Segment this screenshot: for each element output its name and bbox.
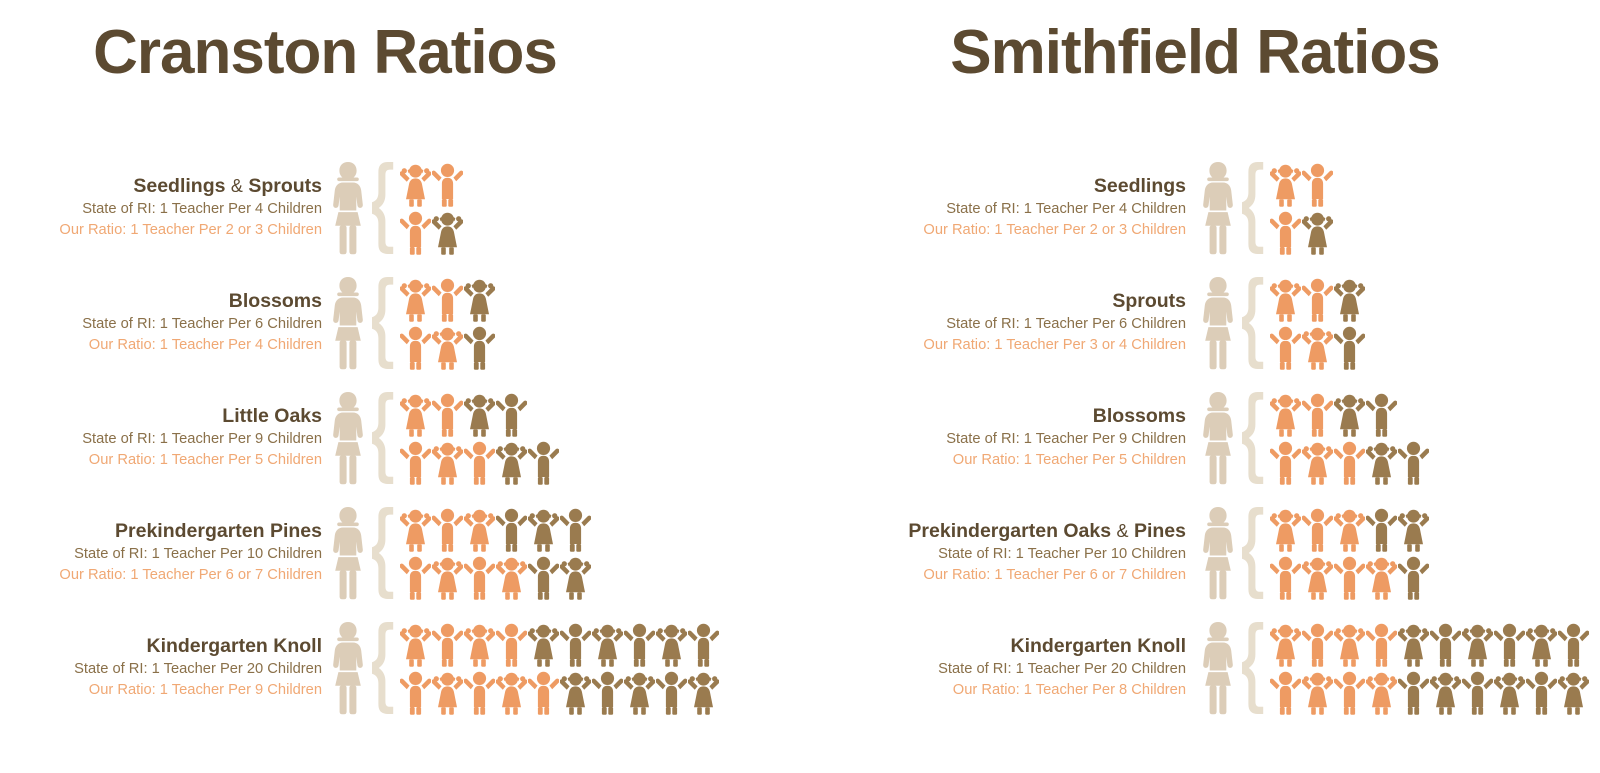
teacher-figure-icon <box>330 390 366 486</box>
children-grid <box>400 161 463 255</box>
child-boy-icon <box>1302 621 1333 667</box>
child-icon <box>1334 554 1365 600</box>
ratio-icon-group <box>330 495 591 610</box>
brace-icon-wrap <box>368 392 394 484</box>
teacher-figure-icon <box>330 620 366 716</box>
child-icon <box>1494 621 1525 667</box>
ampersand: & <box>231 176 243 196</box>
child-icon <box>1302 669 1333 715</box>
child-icon <box>1334 439 1365 485</box>
classroom-name: Blossoms <box>0 289 322 314</box>
teacher-figure-icon <box>330 505 366 601</box>
our-ratio-text: Our Ratio: 1 Teacher Per 2 or 3 Children <box>800 220 1186 241</box>
our-ratio-text: Our Ratio: 1 Teacher Per 5 Children <box>800 450 1186 471</box>
child-icon <box>432 506 463 552</box>
child-icon <box>1462 669 1493 715</box>
child-girl-icon <box>1494 669 1525 715</box>
child-boy-icon <box>1494 621 1525 667</box>
ratio-row: Kindergarten KnollState of RI: 1 Teacher… <box>0 610 800 725</box>
children-row <box>400 669 719 715</box>
child-icon <box>560 621 591 667</box>
child-icon <box>656 621 687 667</box>
child-boy-icon <box>432 506 463 552</box>
child-icon <box>1334 669 1365 715</box>
brace-icon-wrap <box>368 162 394 254</box>
child-girl-icon <box>432 209 463 255</box>
child-girl-icon <box>432 669 463 715</box>
child-icon <box>496 391 527 437</box>
child-icon <box>1302 161 1333 207</box>
child-girl-icon <box>1302 554 1333 600</box>
child-boy-icon <box>496 506 527 552</box>
child-boy-icon <box>400 209 431 255</box>
row-labels: BlossomsState of RI: 1 Teacher Per 9 Chi… <box>800 404 1200 472</box>
ratio-row: SeedlingsState of RI: 1 Teacher Per 4 Ch… <box>800 150 1600 265</box>
child-icon <box>496 621 527 667</box>
child-girl-icon <box>1302 209 1333 255</box>
child-girl-icon <box>464 391 495 437</box>
child-boy-icon <box>1302 391 1333 437</box>
brace-icon-wrap <box>1238 277 1264 369</box>
child-girl-icon <box>1334 391 1365 437</box>
curly-brace-icon <box>1238 162 1264 254</box>
child-icon <box>496 439 527 485</box>
child-girl-icon <box>1558 669 1589 715</box>
children-row <box>1270 391 1429 437</box>
children-row <box>400 506 591 552</box>
child-icon <box>1270 324 1301 370</box>
child-girl-icon <box>1270 276 1301 322</box>
child-girl-icon <box>592 621 623 667</box>
child-girl-icon <box>528 506 559 552</box>
children-row <box>400 391 559 437</box>
teacher-icon-wrap <box>330 160 366 256</box>
child-girl-icon <box>1366 554 1397 600</box>
child-girl-icon <box>1270 506 1301 552</box>
brace-icon-wrap <box>1238 162 1264 254</box>
ratio-icon-group <box>1200 610 1589 725</box>
curly-brace-icon <box>368 622 394 714</box>
brace-icon-wrap <box>1238 622 1264 714</box>
curly-brace-icon <box>368 507 394 599</box>
children-row <box>400 554 591 600</box>
child-boy-icon <box>1366 391 1397 437</box>
teacher-figure-icon <box>330 160 366 256</box>
children-row <box>400 161 463 207</box>
our-ratio-text: Our Ratio: 1 Teacher Per 6 or 7 Children <box>800 565 1186 586</box>
our-ratio-text: Our Ratio: 1 Teacher Per 6 or 7 Children <box>0 565 322 586</box>
child-girl-icon <box>1430 669 1461 715</box>
child-girl-icon <box>1302 669 1333 715</box>
children-row <box>1270 324 1365 370</box>
row-labels: SeedlingsState of RI: 1 Teacher Per 4 Ch… <box>800 174 1200 242</box>
teacher-icon-wrap <box>1200 620 1236 716</box>
children-row <box>1270 669 1589 715</box>
teacher-icon-wrap <box>1200 160 1236 256</box>
child-icon <box>688 621 719 667</box>
state-ratio-text: State of RI: 1 Teacher Per 4 Children <box>800 199 1186 220</box>
state-ratio-text: State of RI: 1 Teacher Per 6 Children <box>800 314 1186 335</box>
child-girl-icon <box>1334 621 1365 667</box>
child-icon <box>1366 669 1397 715</box>
child-boy-icon <box>432 621 463 667</box>
classroom-name-main: Kindergarten Knoll <box>146 635 322 657</box>
our-ratio-text: Our Ratio: 1 Teacher Per 8 Children <box>800 680 1186 701</box>
child-icon <box>432 554 463 600</box>
child-girl-icon <box>496 669 527 715</box>
child-icon <box>624 669 655 715</box>
column-smithfield: Smithfield Ratios SeedlingsState of RI: … <box>800 0 1600 773</box>
children-row <box>400 276 495 322</box>
child-girl-icon <box>1270 621 1301 667</box>
child-boy-icon <box>400 669 431 715</box>
child-icon <box>400 276 431 322</box>
child-girl-icon <box>432 324 463 370</box>
child-icon <box>1334 621 1365 667</box>
classroom-name: Kindergarten Knoll <box>800 634 1186 659</box>
child-boy-icon <box>464 324 495 370</box>
infographic-root: Cranston Ratios Seedlings & SproutsState… <box>0 0 1600 773</box>
child-icon <box>528 506 559 552</box>
child-boy-icon <box>432 391 463 437</box>
child-boy-icon <box>1366 506 1397 552</box>
child-girl-icon <box>1334 276 1365 322</box>
child-girl-icon <box>432 554 463 600</box>
child-icon <box>1558 621 1589 667</box>
child-boy-icon <box>1430 621 1461 667</box>
classroom-name-main: Sprouts <box>1112 290 1186 312</box>
ratio-row: Seedlings & SproutsState of RI: 1 Teache… <box>0 150 800 265</box>
child-icon <box>1302 391 1333 437</box>
child-boy-icon <box>688 621 719 667</box>
child-girl-icon <box>1398 621 1429 667</box>
classroom-name-main: Kindergarten Knoll <box>1010 635 1186 657</box>
teacher-figure-icon <box>330 275 366 371</box>
our-ratio-text: Our Ratio: 1 Teacher Per 3 or 4 Children <box>800 335 1186 356</box>
child-icon <box>1302 324 1333 370</box>
child-girl-icon <box>1270 391 1301 437</box>
ratio-row-list: SeedlingsState of RI: 1 Teacher Per 4 Ch… <box>800 150 1600 725</box>
child-boy-icon <box>400 554 431 600</box>
child-icon <box>1366 506 1397 552</box>
row-labels: Kindergarten KnollState of RI: 1 Teacher… <box>0 634 330 702</box>
teacher-figure-icon <box>1200 620 1236 716</box>
child-boy-icon <box>1462 669 1493 715</box>
ratio-row: Prekindergarten PinesState of RI: 1 Teac… <box>0 495 800 610</box>
ratio-icon-group <box>1200 150 1333 265</box>
child-icon <box>528 554 559 600</box>
child-boy-icon <box>1302 161 1333 207</box>
child-girl-icon <box>432 439 463 485</box>
curly-brace-icon <box>1238 507 1264 599</box>
ratio-row: Kindergarten KnollState of RI: 1 Teacher… <box>800 610 1600 725</box>
child-icon <box>624 621 655 667</box>
teacher-figure-icon <box>1200 275 1236 371</box>
child-girl-icon <box>496 554 527 600</box>
teacher-icon-wrap <box>330 275 366 371</box>
child-boy-icon <box>560 506 591 552</box>
our-ratio-text: Our Ratio: 1 Teacher Per 4 Children <box>0 335 322 356</box>
state-ratio-text: State of RI: 1 Teacher Per 10 Children <box>0 544 322 565</box>
child-icon <box>464 276 495 322</box>
child-boy-icon <box>400 324 431 370</box>
child-icon <box>464 391 495 437</box>
row-labels: Little OaksState of RI: 1 Teacher Per 9 … <box>0 404 330 472</box>
child-icon <box>1334 276 1365 322</box>
child-icon <box>560 669 591 715</box>
classroom-name: Seedlings & Sprouts <box>0 174 322 199</box>
child-boy-icon <box>528 439 559 485</box>
child-icon <box>1302 276 1333 322</box>
child-icon <box>1334 324 1365 370</box>
classroom-name-main: Seedlings <box>133 175 225 197</box>
child-icon <box>1270 161 1301 207</box>
child-boy-icon <box>1302 276 1333 322</box>
state-ratio-text: State of RI: 1 Teacher Per 20 Children <box>0 659 322 680</box>
child-icon <box>1270 506 1301 552</box>
ratio-icon-group <box>1200 265 1365 380</box>
state-ratio-text: State of RI: 1 Teacher Per 9 Children <box>0 429 322 450</box>
child-icon <box>688 669 719 715</box>
child-icon <box>400 161 431 207</box>
child-boy-icon <box>1334 439 1365 485</box>
child-icon <box>400 506 431 552</box>
state-ratio-text: State of RI: 1 Teacher Per 9 Children <box>800 429 1186 450</box>
teacher-figure-icon <box>1200 160 1236 256</box>
child-girl-icon <box>1302 324 1333 370</box>
curly-brace-icon <box>368 392 394 484</box>
ratio-icon-group <box>330 610 719 725</box>
row-labels: Seedlings & SproutsState of RI: 1 Teache… <box>0 174 330 242</box>
teacher-icon-wrap <box>1200 390 1236 486</box>
our-ratio-text: Our Ratio: 1 Teacher Per 5 Children <box>0 450 322 471</box>
ratio-icon-group <box>330 380 559 495</box>
children-row <box>1270 276 1365 322</box>
ratio-row-list: Seedlings & SproutsState of RI: 1 Teache… <box>0 150 800 725</box>
child-icon <box>1398 621 1429 667</box>
child-boy-icon <box>1558 621 1589 667</box>
ratio-icon-group <box>330 150 463 265</box>
child-girl-icon <box>400 391 431 437</box>
child-girl-icon <box>624 669 655 715</box>
child-boy-icon <box>432 276 463 322</box>
child-girl-icon <box>1366 669 1397 715</box>
child-icon <box>1270 276 1301 322</box>
children-row <box>400 324 495 370</box>
child-boy-icon <box>1270 209 1301 255</box>
child-boy-icon <box>528 554 559 600</box>
child-icon <box>592 669 623 715</box>
child-icon <box>432 439 463 485</box>
children-grid <box>1270 391 1429 485</box>
child-boy-icon <box>496 621 527 667</box>
classroom-name: Kindergarten Knoll <box>0 634 322 659</box>
child-icon <box>464 506 495 552</box>
classroom-name: Prekindergarten Oaks & Pines <box>800 519 1186 544</box>
child-icon <box>1270 669 1301 715</box>
ratio-row: SproutsState of RI: 1 Teacher Per 6 Chil… <box>800 265 1600 380</box>
children-row <box>1270 161 1333 207</box>
classroom-name-main: Seedlings <box>1094 175 1186 197</box>
child-icon <box>1430 621 1461 667</box>
child-icon <box>528 439 559 485</box>
classroom-name: Prekindergarten Pines <box>0 519 322 544</box>
child-boy-icon <box>1526 669 1557 715</box>
child-icon <box>1270 209 1301 255</box>
child-girl-icon <box>1526 621 1557 667</box>
child-boy-icon <box>656 669 687 715</box>
child-icon <box>1302 554 1333 600</box>
child-icon <box>1270 554 1301 600</box>
child-icon <box>528 669 559 715</box>
child-icon <box>1302 506 1333 552</box>
child-icon <box>1270 621 1301 667</box>
child-boy-icon <box>1366 621 1397 667</box>
state-ratio-text: State of RI: 1 Teacher Per 4 Children <box>0 199 322 220</box>
child-boy-icon <box>496 391 527 437</box>
child-girl-icon <box>496 439 527 485</box>
ampersand: & <box>1117 521 1129 541</box>
child-girl-icon <box>656 621 687 667</box>
child-boy-icon <box>1334 554 1365 600</box>
child-icon <box>1462 621 1493 667</box>
classroom-name-main: Prekindergarten Oaks <box>908 520 1111 542</box>
curly-brace-icon <box>368 277 394 369</box>
child-icon <box>1398 439 1429 485</box>
brace-icon-wrap <box>1238 392 1264 484</box>
curly-brace-icon <box>1238 277 1264 369</box>
ratio-row: Prekindergarten Oaks & PinesState of RI:… <box>800 495 1600 610</box>
row-labels: Prekindergarten PinesState of RI: 1 Teac… <box>0 519 330 587</box>
child-icon <box>560 554 591 600</box>
child-icon <box>1334 391 1365 437</box>
child-icon <box>400 209 431 255</box>
child-icon <box>1366 391 1397 437</box>
classroom-name-tail: Sprouts <box>248 175 322 197</box>
curly-brace-icon <box>1238 622 1264 714</box>
classroom-name: Seedlings <box>800 174 1186 199</box>
our-ratio-text: Our Ratio: 1 Teacher Per 2 or 3 Children <box>0 220 322 241</box>
child-icon <box>400 439 431 485</box>
child-icon <box>1334 506 1365 552</box>
child-icon <box>400 554 431 600</box>
child-boy-icon <box>464 554 495 600</box>
classroom-name: Little Oaks <box>0 404 322 429</box>
children-grid <box>400 391 559 485</box>
child-girl-icon <box>464 276 495 322</box>
curly-brace-icon <box>368 162 394 254</box>
child-icon <box>1398 506 1429 552</box>
child-girl-icon <box>400 621 431 667</box>
column-title: Smithfield Ratios <box>800 0 1600 84</box>
child-icon <box>1398 554 1429 600</box>
row-labels: Prekindergarten Oaks & PinesState of RI:… <box>800 519 1200 587</box>
child-boy-icon <box>528 669 559 715</box>
children-row <box>400 439 559 485</box>
child-girl-icon <box>560 669 591 715</box>
child-girl-icon <box>464 621 495 667</box>
child-boy-icon <box>1302 506 1333 552</box>
child-boy-icon <box>432 161 463 207</box>
state-ratio-text: State of RI: 1 Teacher Per 20 Children <box>800 659 1186 680</box>
children-grid <box>1270 506 1429 600</box>
child-icon <box>432 161 463 207</box>
child-icon <box>1270 391 1301 437</box>
classroom-name-tail: Pines <box>1134 520 1186 542</box>
child-girl-icon <box>528 621 559 667</box>
children-row <box>400 621 719 667</box>
child-icon <box>432 669 463 715</box>
ratio-row: Little OaksState of RI: 1 Teacher Per 9 … <box>0 380 800 495</box>
child-boy-icon <box>464 669 495 715</box>
child-icon <box>560 506 591 552</box>
children-row <box>1270 439 1429 485</box>
children-grid <box>1270 276 1365 370</box>
children-grid <box>400 506 591 600</box>
child-icon <box>464 669 495 715</box>
child-icon <box>1302 209 1333 255</box>
column-title: Cranston Ratios <box>0 0 800 84</box>
child-boy-icon <box>624 621 655 667</box>
child-boy-icon <box>1270 324 1301 370</box>
children-grid <box>1270 161 1333 255</box>
child-girl-icon <box>1398 506 1429 552</box>
row-labels: Kindergarten KnollState of RI: 1 Teacher… <box>800 634 1200 702</box>
child-icon <box>528 621 559 667</box>
brace-icon-wrap <box>368 507 394 599</box>
teacher-icon-wrap <box>330 390 366 486</box>
child-icon <box>432 391 463 437</box>
child-icon <box>592 621 623 667</box>
child-girl-icon <box>400 506 431 552</box>
column-cranston: Cranston Ratios Seedlings & SproutsState… <box>0 0 800 773</box>
child-girl-icon <box>1302 439 1333 485</box>
children-grid <box>400 621 719 715</box>
children-grid <box>400 276 495 370</box>
children-row <box>400 209 463 255</box>
child-boy-icon <box>464 439 495 485</box>
brace-icon-wrap <box>1238 507 1264 599</box>
child-icon <box>1366 554 1397 600</box>
child-icon <box>1366 621 1397 667</box>
child-boy-icon <box>592 669 623 715</box>
child-icon <box>1558 669 1589 715</box>
children-row <box>1270 209 1333 255</box>
brace-icon-wrap <box>368 622 394 714</box>
teacher-icon-wrap <box>1200 505 1236 601</box>
child-boy-icon <box>1398 439 1429 485</box>
child-girl-icon <box>560 554 591 600</box>
child-icon <box>1398 669 1429 715</box>
ratio-icon-group <box>330 265 495 380</box>
classroom-name-main: Little Oaks <box>222 405 322 427</box>
child-girl-icon <box>1334 506 1365 552</box>
child-icon <box>400 669 431 715</box>
child-girl-icon <box>400 161 431 207</box>
child-girl-icon <box>1366 439 1397 485</box>
children-row <box>1270 554 1429 600</box>
teacher-figure-icon <box>1200 390 1236 486</box>
classroom-name-main: Prekindergarten Pines <box>115 520 322 542</box>
child-icon <box>1526 621 1557 667</box>
state-ratio-text: State of RI: 1 Teacher Per 10 Children <box>800 544 1186 565</box>
child-boy-icon <box>1398 554 1429 600</box>
curly-brace-icon <box>1238 392 1264 484</box>
child-icon <box>432 276 463 322</box>
child-icon <box>400 621 431 667</box>
child-icon <box>464 439 495 485</box>
child-icon <box>496 669 527 715</box>
